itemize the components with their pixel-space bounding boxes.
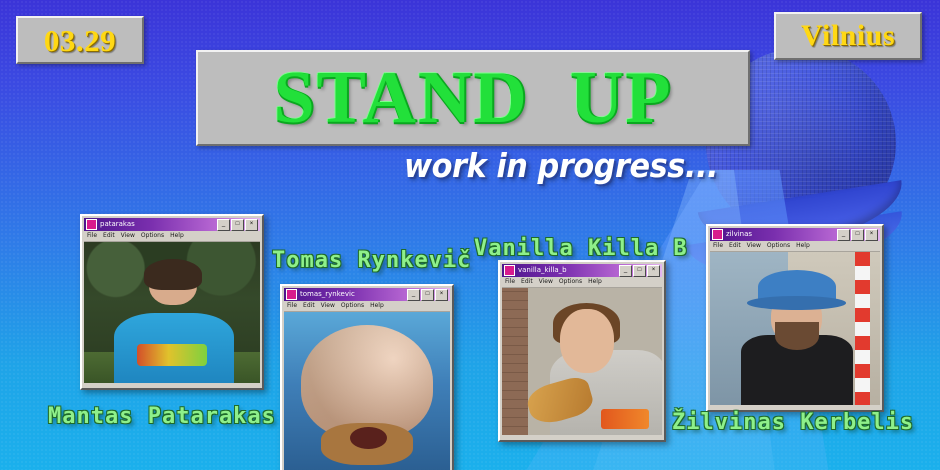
window-menubar[interactable]: File Edit View Options Help	[84, 231, 260, 242]
minimize-button[interactable]: _	[217, 219, 230, 231]
performer-photo-zilvinas	[710, 252, 880, 405]
window-titlebar[interactable]: vanilla_killa_b _ □ ×	[502, 264, 662, 277]
menu-view[interactable]: View	[321, 301, 335, 311]
minimize-button[interactable]: _	[837, 229, 850, 241]
title-plaque: STAND UP	[196, 50, 750, 146]
maximize-button[interactable]: □	[633, 265, 646, 277]
menu-edit[interactable]: Edit	[521, 277, 533, 287]
minimize-button[interactable]: _	[407, 289, 420, 301]
menu-edit[interactable]: Edit	[303, 301, 315, 311]
menu-options[interactable]: Options	[141, 231, 164, 241]
menu-options[interactable]: Options	[767, 241, 790, 251]
close-button[interactable]: ×	[435, 289, 448, 301]
window-titlebar[interactable]: zilvinas _ □ ×	[710, 228, 880, 241]
performer-photo-mantas	[84, 242, 260, 383]
menu-help[interactable]: Help	[588, 277, 602, 287]
window-titlebar[interactable]: patarakas _ □ ×	[84, 218, 260, 231]
window-app-icon	[86, 219, 97, 230]
menu-options[interactable]: Options	[559, 277, 582, 287]
performer-photo-vanilla-killa-b	[502, 288, 662, 435]
maximize-button[interactable]: □	[231, 219, 244, 231]
poster-subtitle: work in progress...	[404, 146, 718, 185]
window-app-icon	[504, 265, 515, 276]
window-button-group[interactable]: _ □ ×	[619, 265, 660, 277]
city-badge: Vilnius	[774, 12, 922, 60]
date-badge-label: 03.29	[44, 25, 116, 56]
close-button[interactable]: ×	[245, 219, 258, 231]
photo-window-tomas[interactable]: tomas_rynkevic _ □ × File Edit View Opti…	[280, 284, 454, 470]
maximize-button[interactable]: □	[851, 229, 864, 241]
date-badge: 03.29	[16, 16, 144, 64]
menu-view[interactable]: View	[121, 231, 135, 241]
window-button-group[interactable]: _ □ ×	[217, 219, 258, 231]
window-title-text: patarakas	[100, 220, 217, 229]
menu-help[interactable]: Help	[796, 241, 810, 251]
window-menubar[interactable]: File Edit View Options Help	[284, 301, 450, 312]
window-title-text: tomas_rynkevic	[300, 290, 407, 299]
menu-file[interactable]: File	[505, 277, 515, 287]
city-badge-label: Vilnius	[801, 21, 895, 51]
window-app-icon	[712, 229, 723, 240]
minimize-button[interactable]: _	[619, 265, 632, 277]
window-button-group[interactable]: _ □ ×	[407, 289, 448, 301]
window-menubar[interactable]: File Edit View Options Help	[502, 277, 662, 288]
menu-edit[interactable]: Edit	[729, 241, 741, 251]
performer-name-vanilla-killa-b: Vanilla Killa B	[474, 236, 688, 261]
close-button[interactable]: ×	[865, 229, 878, 241]
window-app-icon	[286, 289, 297, 300]
performer-name-zilvinas: Žilvinas Kerbelis	[672, 410, 914, 435]
window-title-text: vanilla_killa_b	[518, 266, 619, 275]
maximize-button[interactable]: □	[421, 289, 434, 301]
performer-photo-tomas	[284, 312, 450, 470]
window-button-group[interactable]: _ □ ×	[837, 229, 878, 241]
performer-name-mantas: Mantas Patarakas	[48, 404, 276, 429]
menu-options[interactable]: Options	[341, 301, 364, 311]
close-button[interactable]: ×	[647, 265, 660, 277]
event-poster: 03.29 Vilnius STAND UP work in progress.…	[0, 0, 940, 470]
photo-window-mantas[interactable]: patarakas _ □ × File Edit View Options H…	[80, 214, 264, 390]
menu-edit[interactable]: Edit	[103, 231, 115, 241]
menu-help[interactable]: Help	[170, 231, 184, 241]
menu-file[interactable]: File	[713, 241, 723, 251]
window-menubar[interactable]: File Edit View Options Help	[710, 241, 880, 252]
window-title-text: zilvinas	[726, 230, 837, 239]
poster-title: STAND UP	[274, 61, 673, 135]
menu-view[interactable]: View	[747, 241, 761, 251]
menu-file[interactable]: File	[287, 301, 297, 311]
photo-window-zilvinas[interactable]: zilvinas _ □ × File Edit View Options He…	[706, 224, 884, 412]
window-titlebar[interactable]: tomas_rynkevic _ □ ×	[284, 288, 450, 301]
photo-window-vanilla-killa-b[interactable]: vanilla_killa_b _ □ × File Edit View Opt…	[498, 260, 666, 442]
menu-view[interactable]: View	[539, 277, 553, 287]
performer-name-tomas: Tomas Rynkevič	[272, 248, 471, 273]
menu-help[interactable]: Help	[370, 301, 384, 311]
menu-file[interactable]: File	[87, 231, 97, 241]
